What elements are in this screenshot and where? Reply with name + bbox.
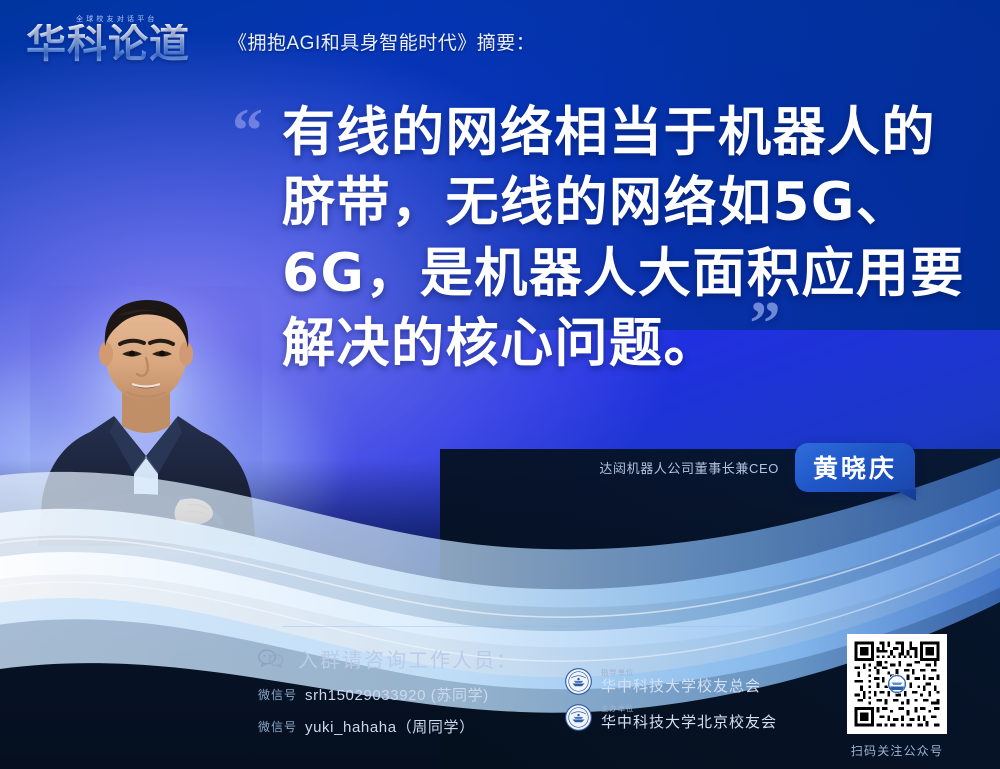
brand-logo[interactable]: 全球校友对话平台 华科论道 <box>26 16 212 64</box>
poster-root: 全球校友对话平台 华科论道 《拥抱AGI和具身智能时代》摘要： “ 有线的网络相… <box>0 0 1000 769</box>
quote-line-3: 6G，是机器人大面积应用要 <box>282 239 962 309</box>
wechat-icon <box>258 649 284 668</box>
university-seal-icon <box>565 668 592 695</box>
quote-close-mark: ” <box>750 293 783 355</box>
speaker-role: 达闼机器人公司董事长兼CEO <box>599 458 779 477</box>
organization-kicker-2: 主办单位 <box>601 705 777 713</box>
speaker-name-badge: 黄晓庆 <box>795 443 915 492</box>
organization-name-1: 华中科技大学校友总会 <box>601 679 761 695</box>
organization-row-2: 主办单位 华中科技大学北京校友会 <box>565 704 777 731</box>
organization-name-2: 华中科技大学北京校友会 <box>601 715 777 731</box>
university-seal-icon <box>565 704 592 731</box>
page-title: 《拥抱AGI和具身智能时代》摘要： <box>228 28 535 64</box>
qr-caption: 扫码关注公众号 <box>841 742 953 759</box>
contact-label-2: 微信号 <box>258 718 297 735</box>
header: 全球校友对话平台 华科论道 《拥抱AGI和具身智能时代》摘要： <box>26 16 535 64</box>
footer-heading: 入群请咨询工作人员： <box>298 644 518 673</box>
attribution: 达闼机器人公司董事长兼CEO 黄晓庆 <box>599 443 915 492</box>
quote-line-2: 脐带，无线的网络如5G、 <box>282 168 962 238</box>
quote-open-mark: “ <box>232 100 263 162</box>
quote-line-4-text: 解决的核心问题。 <box>282 313 718 374</box>
organization-text-2: 主办单位 华中科技大学北京校友会 <box>601 705 777 731</box>
organizations-block: 指导单位 华中科技大学校友总会 主办单位 华中科技大学北京校友会 <box>565 668 777 740</box>
speaker-portrait <box>30 286 262 546</box>
quote-body: 有线的网络相当于机器人的 脐带，无线的网络如5G、 6G，是机器人大面积应用要 … <box>282 98 962 380</box>
footer-divider <box>282 626 878 627</box>
organization-row-1: 指导单位 华中科技大学校友总会 <box>565 668 777 695</box>
logo-tagline: 全球校友对话平台 <box>76 14 158 24</box>
contact-label-1: 微信号 <box>258 686 297 703</box>
organization-text-1: 指导单位 华中科技大学校友总会 <box>601 669 761 695</box>
logo-wordmark: 华科论道 <box>26 24 212 64</box>
contact-value-2[interactable]: yuki_hahaha（周同学） <box>305 716 475 737</box>
qr-code-image[interactable] <box>847 634 947 734</box>
qr-block: 扫码关注公众号 <box>841 634 953 759</box>
quote-line-1: 有线的网络相当于机器人的 <box>282 98 962 168</box>
contact-value-1[interactable]: srh15029033920 (苏同学) <box>305 684 489 705</box>
quote-line-4-wrap: 解决的核心问题。 ” <box>282 309 962 379</box>
organization-kicker-1: 指导单位 <box>601 669 761 677</box>
quote-line-4: 解决的核心问题。 ” <box>282 309 718 379</box>
